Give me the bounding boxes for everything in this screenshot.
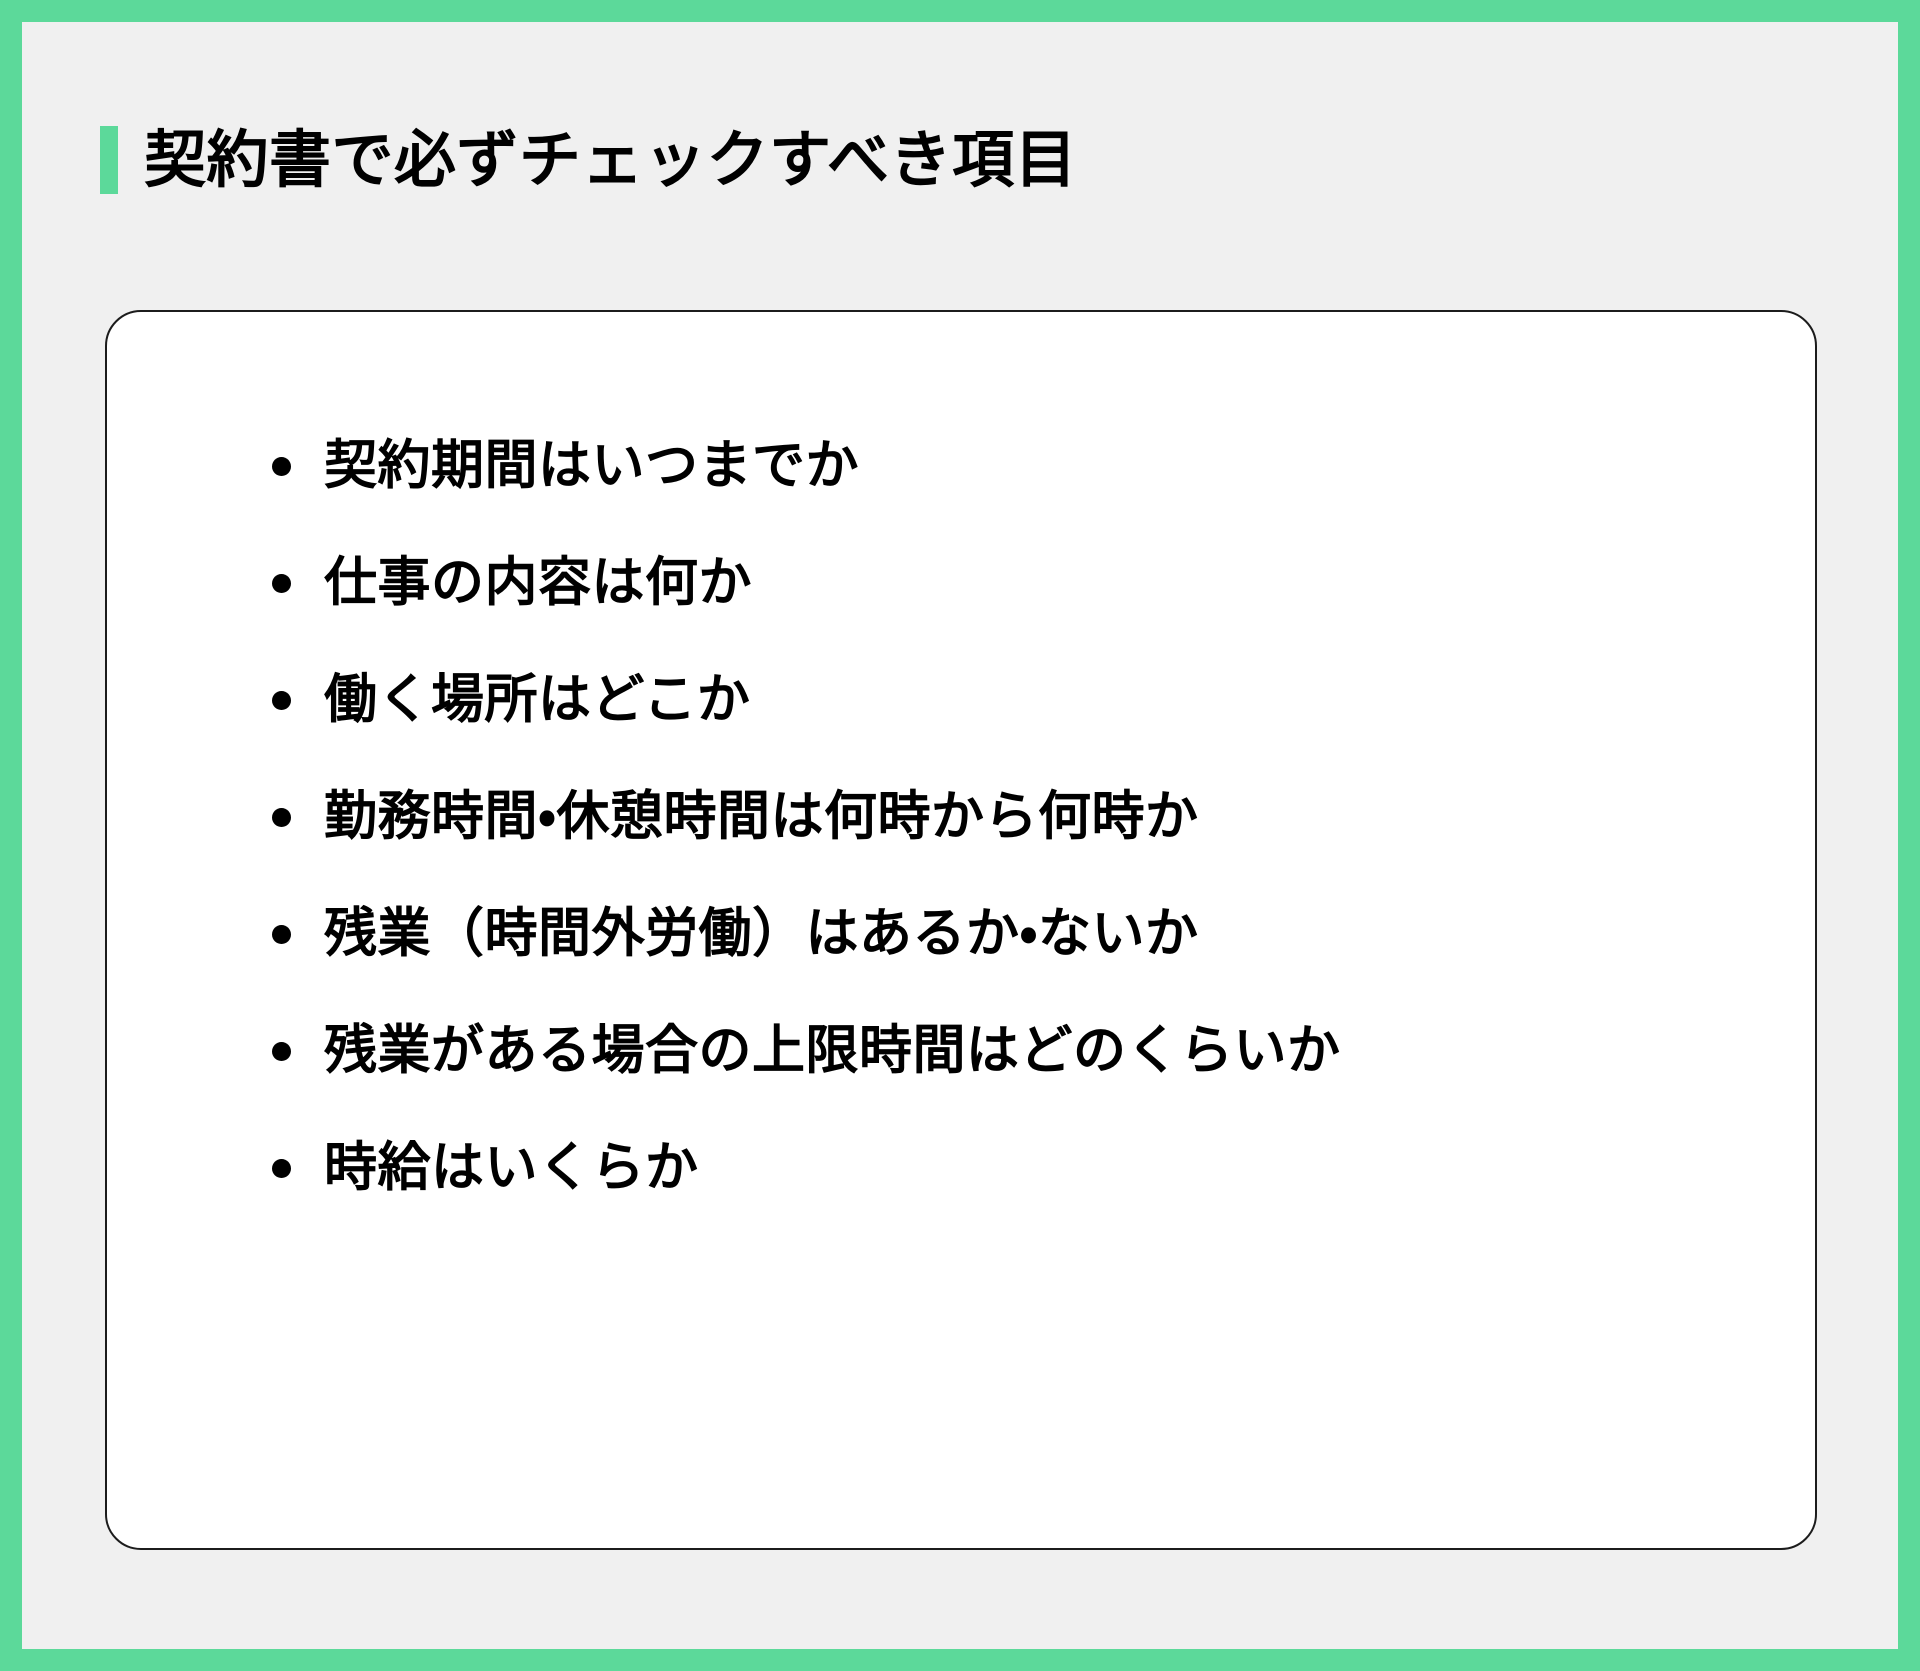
page-title: 契約書で必ずチェックすべき項目 <box>144 129 1077 191</box>
slide-stage: 契約書で必ずチェックすべき項目 契約期間はいつまでか 仕事の内容は何か 働く場所… <box>22 22 1898 1649</box>
bullet-dot-icon <box>272 691 291 710</box>
list-item: 残業がある場合の上限時間はどのくらいか <box>272 993 1341 1110</box>
list-item-label: 勤務時間・休憩時間は何時から何時か <box>324 787 1199 848</box>
list-item-label: 残業（時間外労働）はあるか・ないか <box>324 904 1199 965</box>
bullet-dot-icon <box>272 574 291 593</box>
page-title-row: 契約書で必ずチェックすべき項目 <box>100 118 1077 202</box>
slide-frame: 契約書で必ずチェックすべき項目 契約期間はいつまでか 仕事の内容は何か 働く場所… <box>0 0 1920 1671</box>
list-item-label: 残業がある場合の上限時間はどのくらいか <box>324 1021 1341 1082</box>
list-item-label: 働く場所はどこか <box>324 670 750 731</box>
content-card: 契約期間はいつまでか 仕事の内容は何か 働く場所はどこか 勤務時間・休憩時間は何… <box>105 310 1817 1550</box>
bullet-dot-icon <box>272 808 291 827</box>
list-item-label: 時給はいくらか <box>324 1138 699 1199</box>
bullet-dot-icon <box>272 1159 291 1178</box>
list-item: 勤務時間・休憩時間は何時から何時か <box>272 759 1341 876</box>
accent-bar-icon <box>100 126 118 194</box>
list-item-label: 仕事の内容は何か <box>324 553 752 614</box>
list-item: 契約期間はいつまでか <box>272 408 1341 525</box>
bullet-dot-icon <box>272 457 291 476</box>
bullet-dot-icon <box>272 1042 291 1061</box>
list-item: 仕事の内容は何か <box>272 525 1341 642</box>
list-item: 働く場所はどこか <box>272 642 1341 759</box>
list-item-label: 契約期間はいつまでか <box>324 436 859 497</box>
list-item: 時給はいくらか <box>272 1110 1341 1227</box>
checklist: 契約期間はいつまでか 仕事の内容は何か 働く場所はどこか 勤務時間・休憩時間は何… <box>272 408 1341 1227</box>
bullet-dot-icon <box>272 925 291 944</box>
list-item: 残業（時間外労働）はあるか・ないか <box>272 876 1341 993</box>
